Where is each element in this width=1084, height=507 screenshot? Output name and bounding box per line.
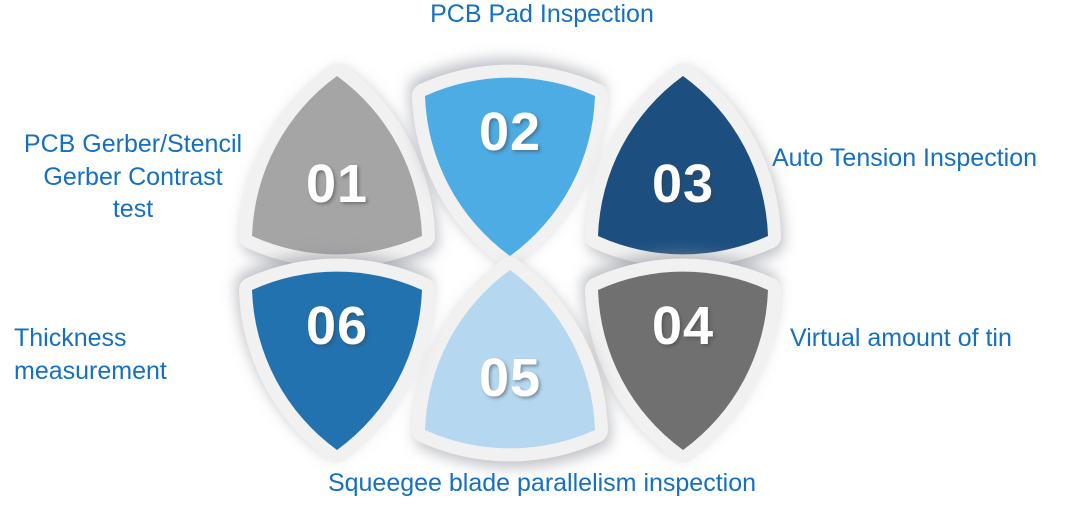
petal-05-number: 05 [479, 348, 541, 408]
diagram-canvas: PCB Pad Inspection PCB Gerber/StencilGer… [0, 0, 1084, 507]
segment-label-02: PCB Pad Inspection [0, 0, 1084, 31]
petal-wheel: 01 02 03 [214, 34, 806, 474]
petal-01-number: 01 [306, 154, 368, 214]
petal-02-number: 02 [479, 102, 541, 162]
segment-label-03: Auto Tension Inspection [772, 142, 1084, 175]
petal-06-number: 06 [306, 296, 368, 356]
petal-04-number: 04 [652, 296, 714, 356]
petal-06[interactable]: 06 [214, 228, 460, 474]
petal-03-number: 03 [652, 154, 714, 214]
segment-label-04: Virtual amount of tin [790, 322, 1084, 355]
